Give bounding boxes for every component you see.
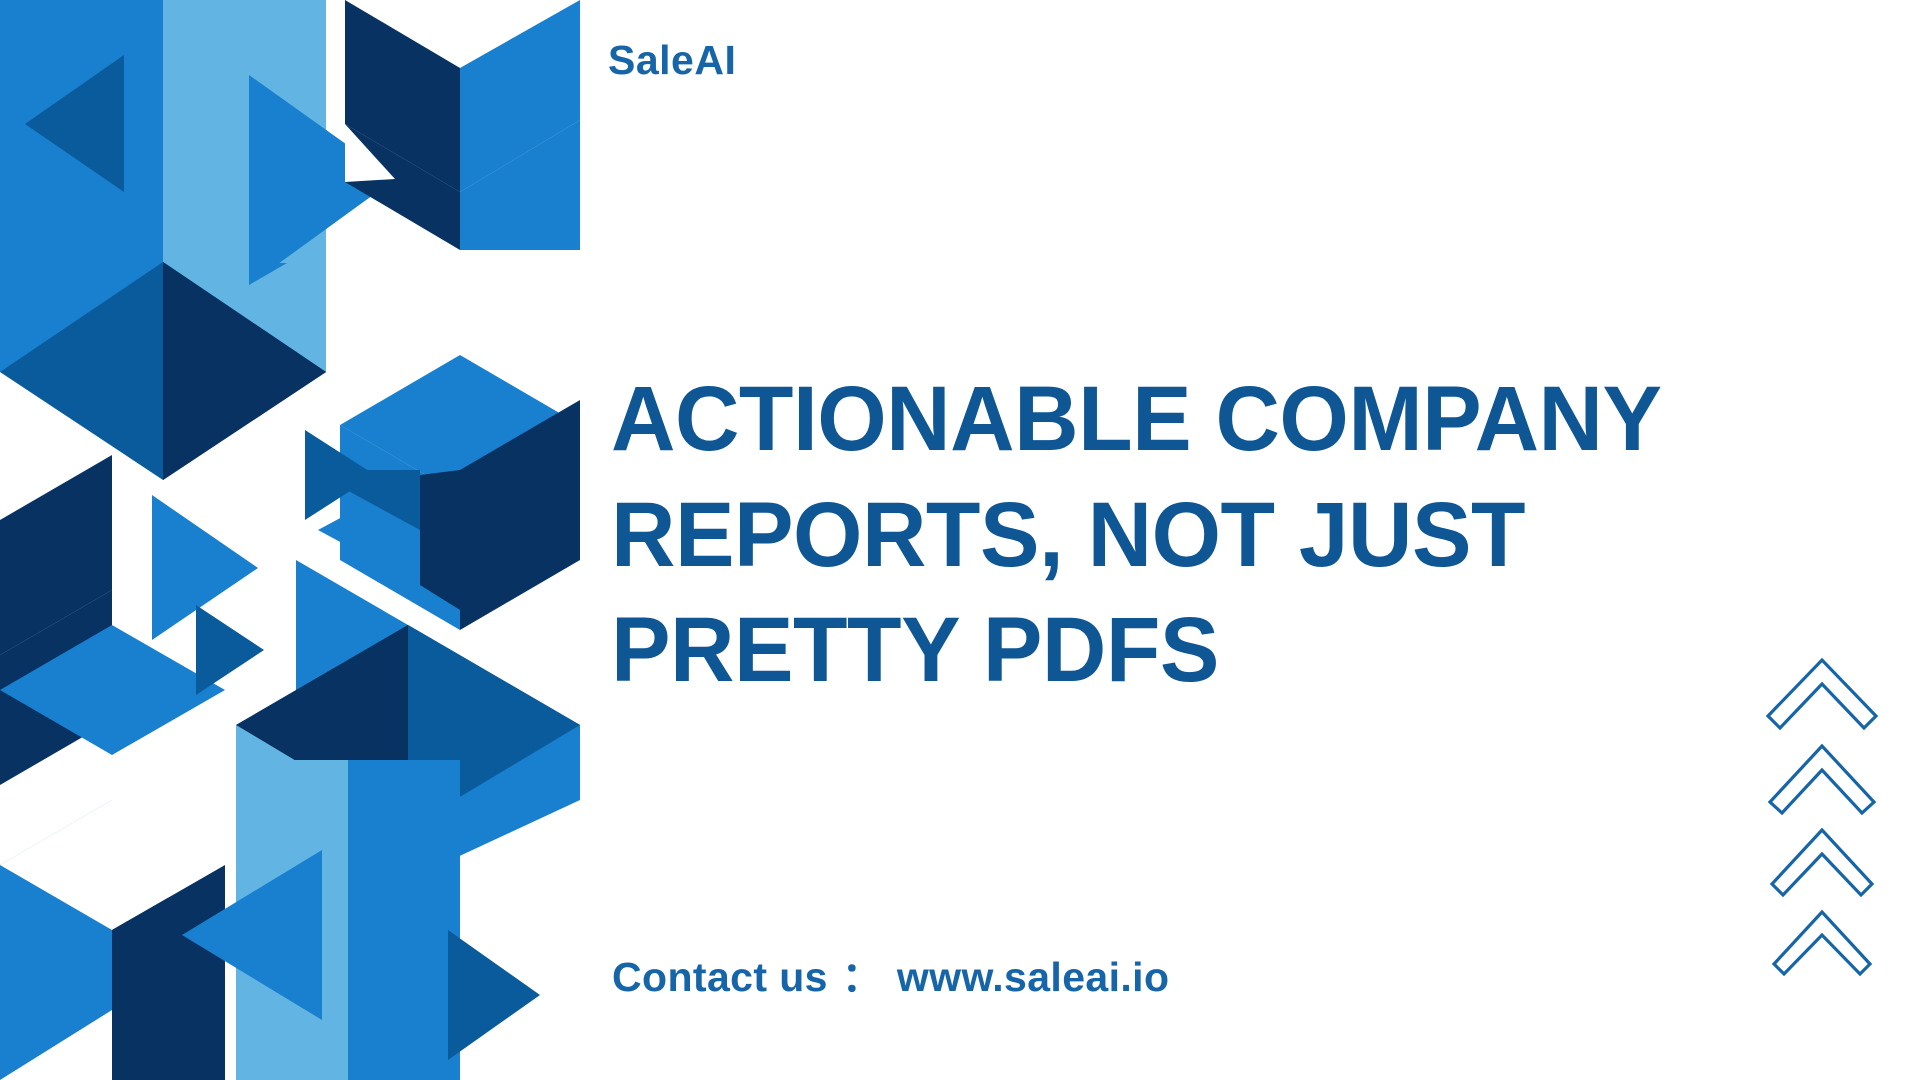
poster-canvas: SaleAI ACTIONABLE COMPANY REPORTS, NOT J… xyxy=(0,0,1920,1080)
contact-line: Contact us ： www.saleai.io xyxy=(612,943,1169,1003)
chevron-up-icon xyxy=(1770,746,1874,813)
headline-line-3: PRETTY PDFS xyxy=(611,593,1862,709)
chevron-stack xyxy=(1756,650,1896,980)
isometric-cubes-pattern xyxy=(0,0,580,1080)
contact-label: Contact us xyxy=(612,954,828,1000)
headline-line-2: REPORTS, NOT JUST xyxy=(611,478,1862,594)
chevron-up-icon xyxy=(1772,830,1872,895)
chevron-up-icon xyxy=(1774,912,1870,974)
contact-website-link[interactable]: www.saleai.io xyxy=(897,954,1170,1000)
contact-separator: ： xyxy=(840,954,885,1000)
page-title: ACTIONABLE COMPANY REPORTS, NOT JUST PRE… xyxy=(611,362,1901,710)
chevron-up-icon xyxy=(1768,660,1876,728)
headline-line-1: ACTIONABLE COMPANY xyxy=(611,362,1862,478)
brand-logo-text: SaleAI xyxy=(608,40,736,81)
